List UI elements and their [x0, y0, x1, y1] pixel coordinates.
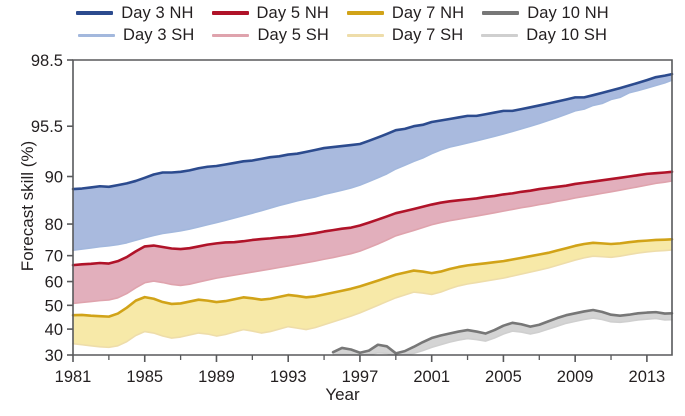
line-swatch-icon [347, 34, 384, 37]
x-tick-label: 2009 [557, 368, 594, 386]
x-tick-label: 2005 [485, 368, 522, 386]
legend-label: Day 10 SH [526, 27, 607, 43]
legend-item-day5-nh: Day 5 NH [212, 5, 329, 21]
legend-label: Day 7 NH [392, 5, 464, 21]
forecast-skill-chart: 3040506070809095.598.5198119851989199319… [0, 50, 685, 416]
plot-area: 3040506070809095.598.5198119851989199319… [0, 50, 685, 416]
figure-root: Day 3 NH Day 5 NH Day 7 NH Day 10 NH Day… [0, 0, 685, 416]
y-tick-label: 30 [45, 347, 63, 365]
legend-item-day10-nh: Day 10 NH [482, 5, 609, 21]
line-swatch-icon [212, 11, 249, 15]
y-tick-label: 70 [45, 248, 63, 266]
x-tick-label: 2013 [629, 368, 666, 386]
legend-label: Day 7 SH [392, 27, 463, 43]
y-axis-label: Forecast skill (%) [18, 106, 38, 306]
x-tick-label: 1985 [126, 368, 163, 386]
legend-label: Day 10 NH [527, 5, 609, 21]
legend-label: Day 5 SH [257, 27, 328, 43]
legend-item-day3-nh: Day 3 NH [76, 5, 193, 21]
y-tick-label: 90 [45, 169, 63, 187]
line-swatch-icon [347, 11, 384, 15]
line-swatch-icon [481, 34, 518, 37]
line-swatch-icon [78, 34, 115, 37]
x-axis-label: Year [0, 385, 685, 405]
x-tick-label: 2001 [413, 368, 450, 386]
x-tick-label: 1993 [270, 368, 307, 386]
y-tick-label: 40 [45, 321, 63, 339]
x-tick-label: 1989 [198, 368, 235, 386]
legend-label: Day 5 NH [257, 5, 329, 21]
y-tick-label: 80 [45, 216, 63, 234]
y-tick-label: 98.5 [31, 52, 63, 70]
legend-row-sh: Day 3 SH Day 5 SH Day 7 SH Day 10 SH [0, 24, 685, 46]
legend-label: Day 3 NH [121, 5, 193, 21]
x-tick-label: 1997 [342, 368, 379, 386]
line-swatch-icon [212, 34, 249, 37]
line-swatch-icon [76, 11, 113, 15]
y-tick-label: 60 [45, 274, 63, 292]
legend-row-nh: Day 3 NH Day 5 NH Day 7 NH Day 10 NH [0, 2, 685, 24]
legend-item-day3-sh: Day 3 SH [78, 27, 194, 43]
chart-legend: Day 3 NH Day 5 NH Day 7 NH Day 10 NH Day… [0, 0, 685, 50]
y-tick-label: 50 [45, 297, 63, 315]
legend-item-day5-sh: Day 5 SH [212, 27, 328, 43]
legend-label: Day 3 SH [123, 27, 194, 43]
legend-item-day10-sh: Day 10 SH [481, 27, 607, 43]
line-swatch-icon [482, 11, 519, 15]
legend-item-day7-sh: Day 7 SH [347, 27, 463, 43]
x-tick-label: 1981 [55, 368, 92, 386]
legend-item-day7-nh: Day 7 NH [347, 5, 464, 21]
